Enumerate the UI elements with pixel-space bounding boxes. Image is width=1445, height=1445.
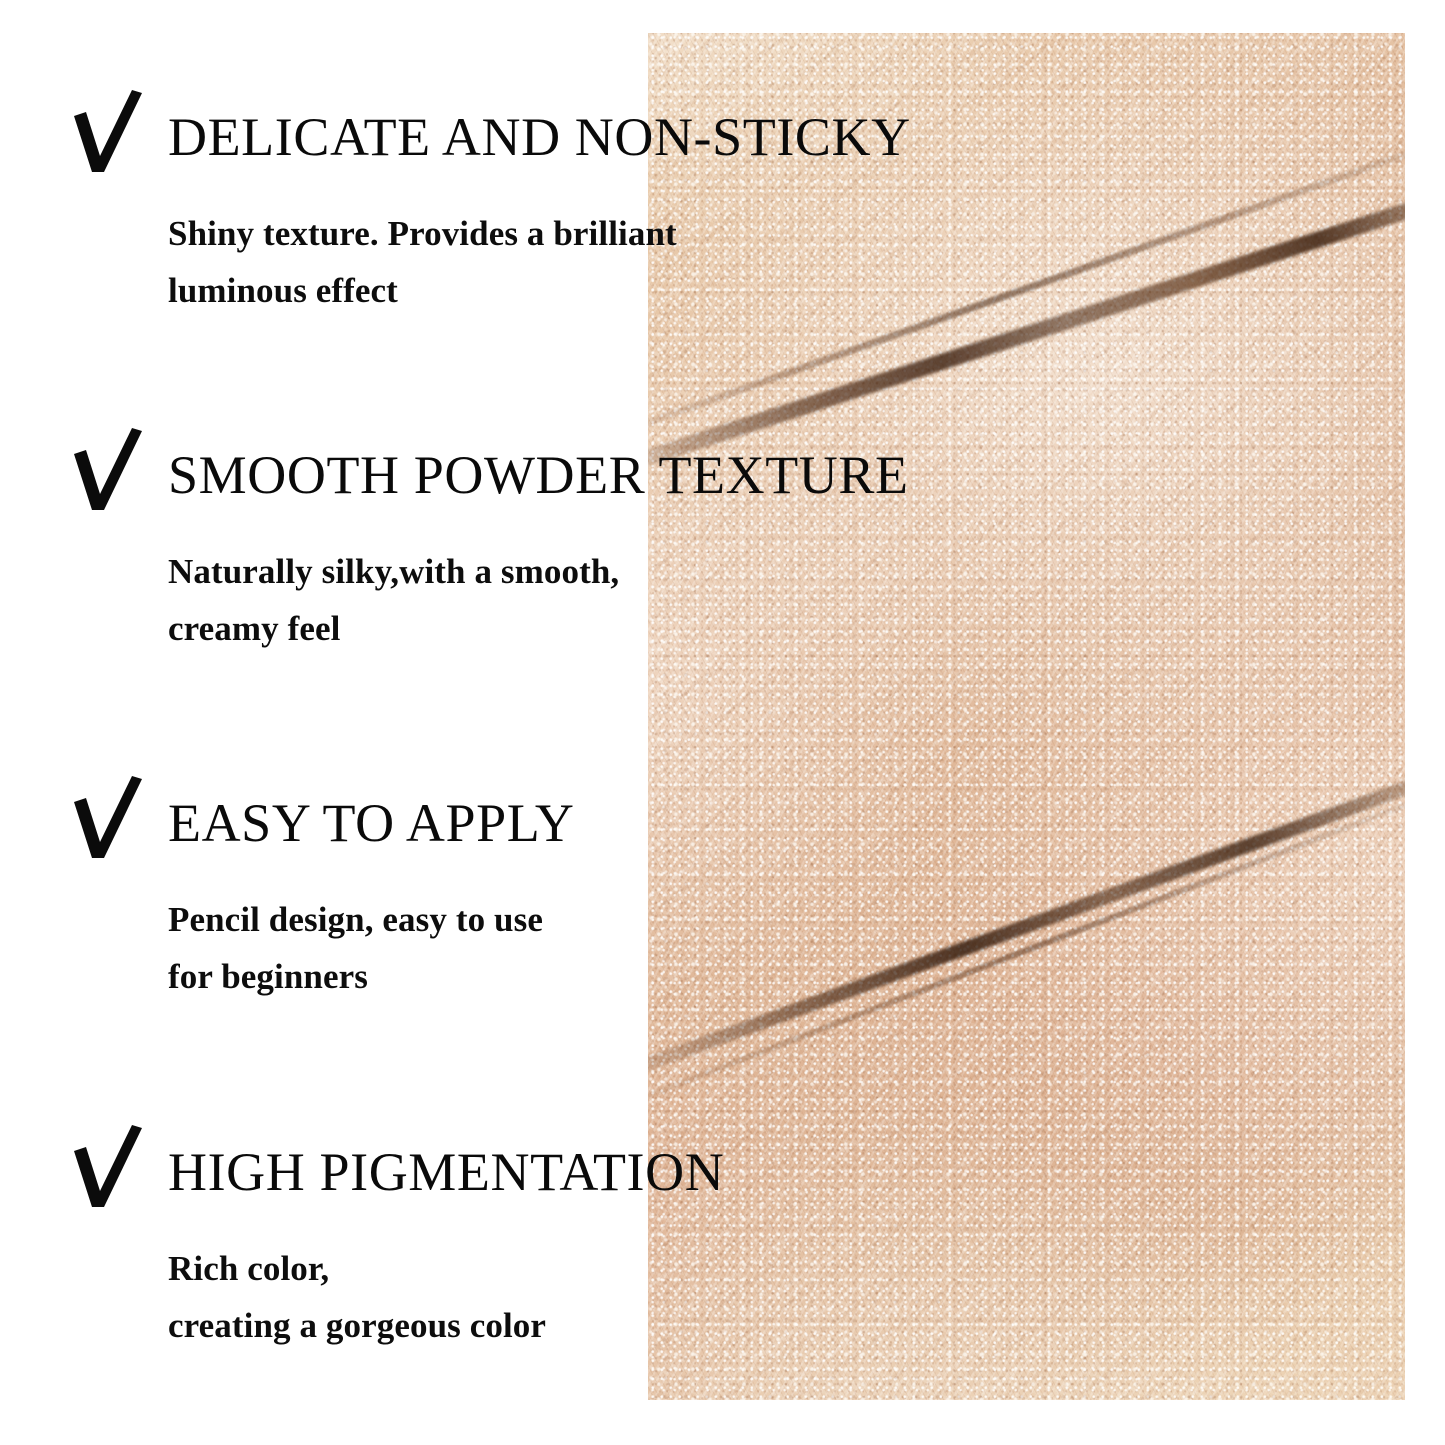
feature-description: Shiny texture. Provides a brilliant lumi… [168, 206, 928, 319]
feature-description-line: Rich color, [168, 1241, 928, 1298]
feature-title: HIGH PIGMENTATION [168, 1144, 724, 1200]
feature-description: Naturally silky,with a smooth, creamy fe… [168, 544, 928, 657]
feature-description: Rich color, creating a gorgeous color [168, 1241, 928, 1354]
feature-description: Pencil design, easy to use for beginners [168, 892, 928, 1005]
feature-block-smooth-powder-texture: SMOOTH POWDER TEXTURE Naturally silky,wi… [0, 432, 1300, 657]
feature-description-line: for beginners [168, 949, 928, 1006]
check-mark-icon [72, 88, 146, 174]
feature-description-line: Naturally silky,with a smooth, [168, 544, 928, 601]
feature-description-line: luminous effect [168, 263, 928, 320]
feature-heading-row: DELICATE AND NON-STICKY [0, 94, 1300, 180]
check-mark-icon [72, 426, 146, 512]
feature-description-line: creamy feel [168, 601, 928, 658]
check-mark-icon [72, 1123, 146, 1209]
feature-title: EASY TO APPLY [168, 795, 575, 851]
check-mark-icon [72, 774, 146, 860]
feature-title: SMOOTH POWDER TEXTURE [168, 447, 909, 503]
feature-heading-row: EASY TO APPLY [0, 780, 1300, 866]
feature-block-easy-to-apply: EASY TO APPLY Pencil design, easy to use… [0, 780, 1300, 1005]
feature-description-line: Pencil design, easy to use [168, 892, 928, 949]
feature-heading-row: HIGH PIGMENTATION [0, 1129, 1300, 1215]
feature-title: DELICATE AND NON-STICKY [168, 109, 911, 165]
feature-block-delicate-and-non-sticky: DELICATE AND NON-STICKY Shiny texture. P… [0, 94, 1300, 319]
feature-block-high-pigmentation: HIGH PIGMENTATION Rich color, creating a… [0, 1129, 1300, 1354]
feature-heading-row: SMOOTH POWDER TEXTURE [0, 432, 1300, 518]
feature-description-line: creating a gorgeous color [168, 1298, 928, 1355]
feature-description-line: Shiny texture. Provides a brilliant [168, 206, 928, 263]
product-feature-infographic: DELICATE AND NON-STICKY Shiny texture. P… [0, 0, 1445, 1445]
feature-list: DELICATE AND NON-STICKY Shiny texture. P… [0, 0, 1445, 1445]
